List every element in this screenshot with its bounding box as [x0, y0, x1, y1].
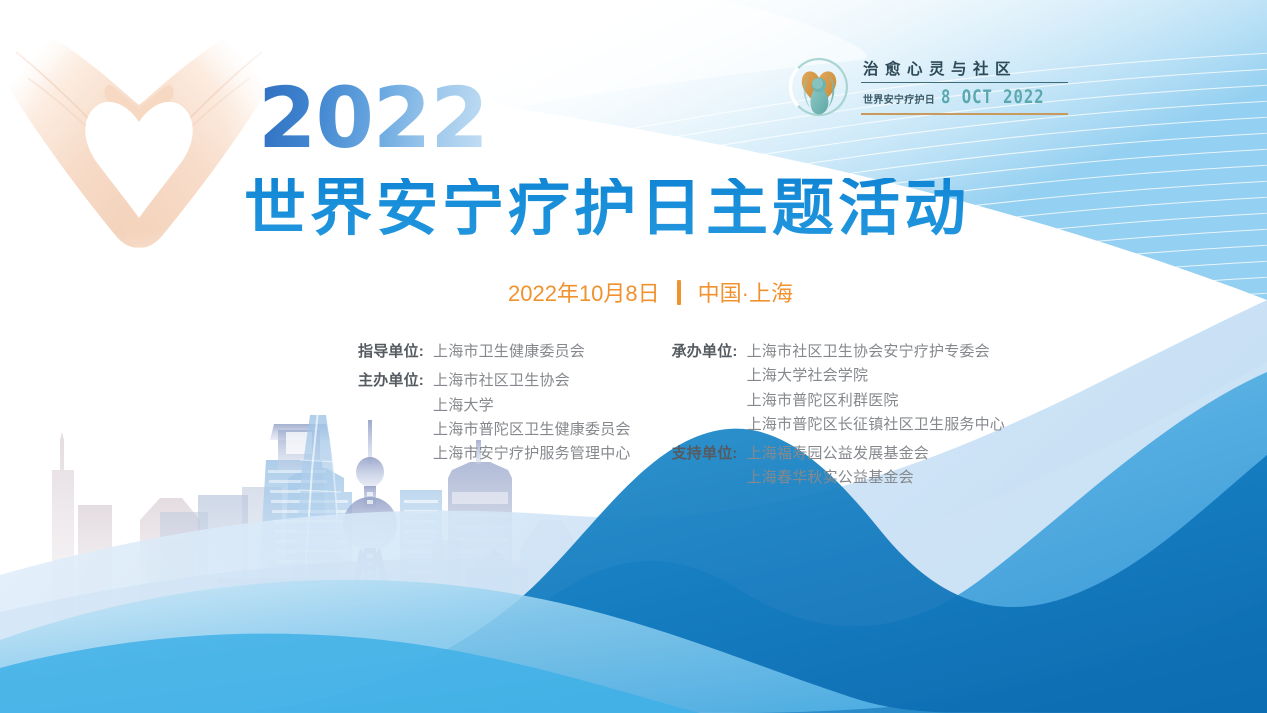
- credit-value: 上海大学: [433, 394, 631, 418]
- credit-label: 承办单位:: [662, 340, 738, 364]
- credit-block: 承办单位: 上海市社区卫生协会安宁疗护专委会 上海大学社会学院 上海市普陀区利群…: [662, 340, 1005, 437]
- credit-value: 上海市社区卫生协会安宁疗护专委会: [747, 340, 1005, 364]
- credit-block: 支持单位: 上海福寿园公益发展基金会 上海春华秋实公益基金会: [662, 442, 1005, 491]
- credit-block: 主办单位: 上海市社区卫生协会 上海大学 上海市普陀区卫生健康委员会 上海市安宁…: [348, 369, 631, 466]
- credit-value: 上海市普陀区卫生健康委员会: [433, 418, 631, 442]
- credit-values: 上海福寿园公益发展基金会 上海春华秋实公益基金会: [747, 442, 929, 491]
- page-title: 世界安宁疗护日主题活动: [244, 178, 970, 240]
- credit-label: 主办单位:: [348, 369, 424, 393]
- logo-theme-text: 治愈心灵与社区: [861, 61, 1068, 79]
- credit-values: 上海市社区卫生协会 上海大学 上海市普陀区卫生健康委员会 上海市安宁疗护服务管理…: [433, 369, 631, 466]
- credit-values: 上海市社区卫生协会安宁疗护专委会 上海大学社会学院 上海市普陀区利群医院 上海市…: [747, 340, 1005, 437]
- logo-subtitle-en: 8 OCT 2022: [941, 86, 1045, 108]
- logo-divider-top: [861, 82, 1068, 84]
- credit-value: 上海市安宁疗护服务管理中心: [433, 442, 631, 466]
- year-heading: 2022: [258, 76, 488, 160]
- credit-label: 指导单位:: [348, 340, 424, 364]
- credit-value: 上海市普陀区利群医院: [747, 389, 1005, 413]
- date-location-line: 2022年10月8日 中国·上海: [0, 276, 1267, 308]
- credit-value: 上海大学社会学院: [747, 364, 1005, 388]
- credits-section: 指导单位: 上海市卫生健康委员会 主办单位: 上海市社区卫生协会 上海大学 上海…: [348, 340, 1005, 491]
- heart-person-circle-logo-icon: [786, 54, 852, 120]
- event-logo-lockup: 治愈心灵与社区 世界安宁疗护日 8 OCT 2022: [786, 54, 1068, 120]
- logo-subtitle-cn: 世界安宁疗护日: [863, 91, 935, 106]
- credit-value: 上海市普陀区长征镇社区卫生服务中心: [747, 413, 1005, 437]
- credit-value: 上海春华秋实公益基金会: [747, 466, 929, 490]
- logo-divider-bottom: [861, 113, 1068, 115]
- event-location: 中国·上海: [698, 276, 793, 308]
- credit-values: 上海市卫生健康委员会: [433, 340, 585, 364]
- credits-column-left: 指导单位: 上海市卫生健康委员会 主办单位: 上海市社区卫生协会 上海大学 上海…: [348, 340, 631, 491]
- event-date: 2022年10月8日: [508, 276, 660, 308]
- date-separator: [677, 280, 681, 305]
- credit-block: 指导单位: 上海市卫生健康委员会: [348, 340, 631, 364]
- credit-label: 支持单位:: [662, 442, 738, 466]
- credit-value: 上海市社区卫生协会: [433, 369, 631, 393]
- credits-column-right: 承办单位: 上海市社区卫生协会安宁疗护专委会 上海大学社会学院 上海市普陀区利群…: [662, 340, 1005, 491]
- poster-root: 治愈心灵与社区 世界安宁疗护日 8 OCT 2022 2022 世界安宁疗护日主…: [0, 0, 1267, 713]
- credit-value: 上海福寿园公益发展基金会: [747, 442, 929, 466]
- credit-value: 上海市卫生健康委员会: [433, 340, 585, 364]
